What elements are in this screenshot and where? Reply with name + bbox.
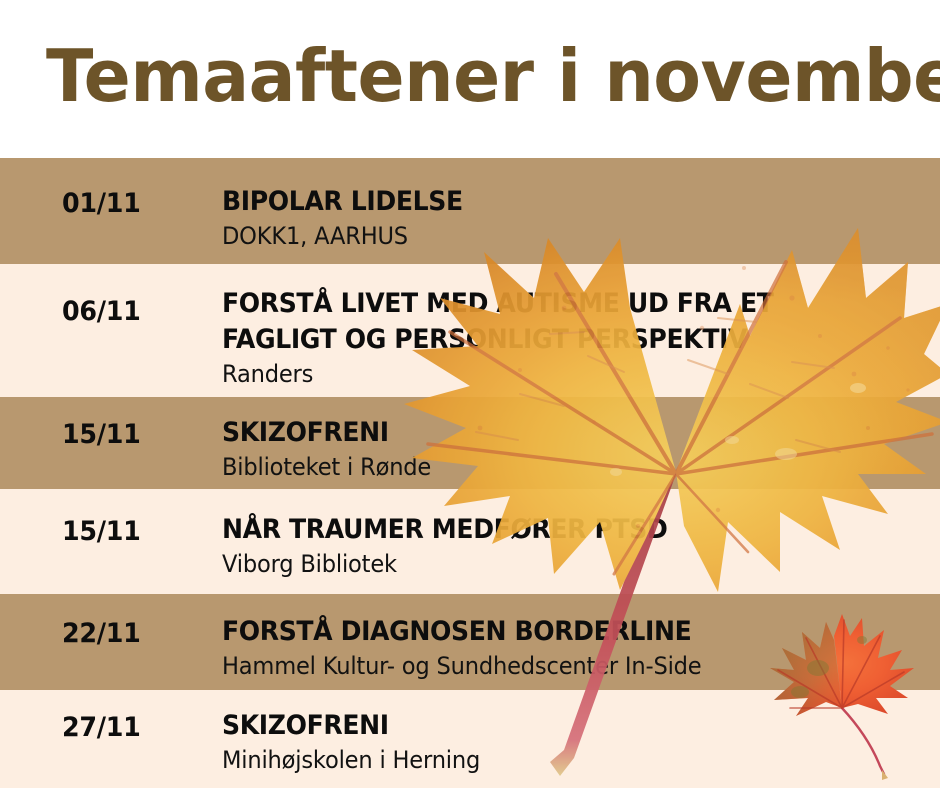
event-place: Viborg Bibliotek [222, 548, 889, 580]
event-row: 27/11 SKIZOFRENI Minihøjskolen i Herning [0, 690, 940, 788]
event-details: SKIZOFRENI Biblioteket i Rønde [222, 415, 932, 483]
event-row: 22/11 FORSTÅ DIAGNOSEN BORDERLINE Hammel… [0, 594, 940, 690]
event-title: SKIZOFRENI [222, 415, 882, 451]
event-details: SKIZOFRENI Minihøjskolen i Herning [222, 708, 932, 776]
event-details: BIPOLAR LIDELSE DOKK1, AARHUS [222, 184, 932, 252]
event-row: 15/11 SKIZOFRENI Biblioteket i Rønde [0, 397, 940, 489]
event-title: SKIZOFRENI [222, 708, 882, 744]
event-date: 27/11 [62, 712, 203, 743]
event-place: Hammel Kultur- og Sundhedscenter In-Side [222, 650, 889, 682]
event-place: Randers [222, 358, 889, 390]
event-place: Biblioteket i Rønde [222, 451, 889, 483]
event-title: NÅR TRAUMER MEDFØRER PTSD [222, 512, 882, 548]
event-title: FORSTÅ LIVET MED AUTISME UD FRA ET FAGLI… [222, 286, 882, 358]
event-title: FORSTÅ DIAGNOSEN BORDERLINE [222, 614, 882, 650]
event-details: FORSTÅ LIVET MED AUTISME UD FRA ET FAGLI… [222, 286, 932, 390]
event-list: 01/11 BIPOLAR LIDELSE DOKK1, AARHUS 06/1… [0, 0, 940, 788]
event-row: 01/11 BIPOLAR LIDELSE DOKK1, AARHUS [0, 158, 940, 264]
event-place: DOKK1, AARHUS [222, 220, 889, 252]
event-date: 15/11 [62, 419, 203, 450]
event-date: 01/11 [62, 188, 203, 219]
event-title: BIPOLAR LIDELSE [222, 184, 882, 220]
event-row: 06/11 FORSTÅ LIVET MED AUTISME UD FRA ET… [0, 264, 940, 397]
event-details: NÅR TRAUMER MEDFØRER PTSD Viborg Bibliot… [222, 512, 932, 580]
poster-canvas: Temaaftener i november 01/11 BIPOLAR LID… [0, 0, 940, 788]
event-row: 15/11 NÅR TRAUMER MEDFØRER PTSD Viborg B… [0, 489, 940, 594]
event-date: 15/11 [62, 516, 203, 547]
event-place: Minihøjskolen i Herning [222, 744, 889, 776]
event-date: 06/11 [62, 296, 203, 327]
event-date: 22/11 [62, 618, 203, 649]
event-details: FORSTÅ DIAGNOSEN BORDERLINE Hammel Kultu… [222, 614, 932, 682]
